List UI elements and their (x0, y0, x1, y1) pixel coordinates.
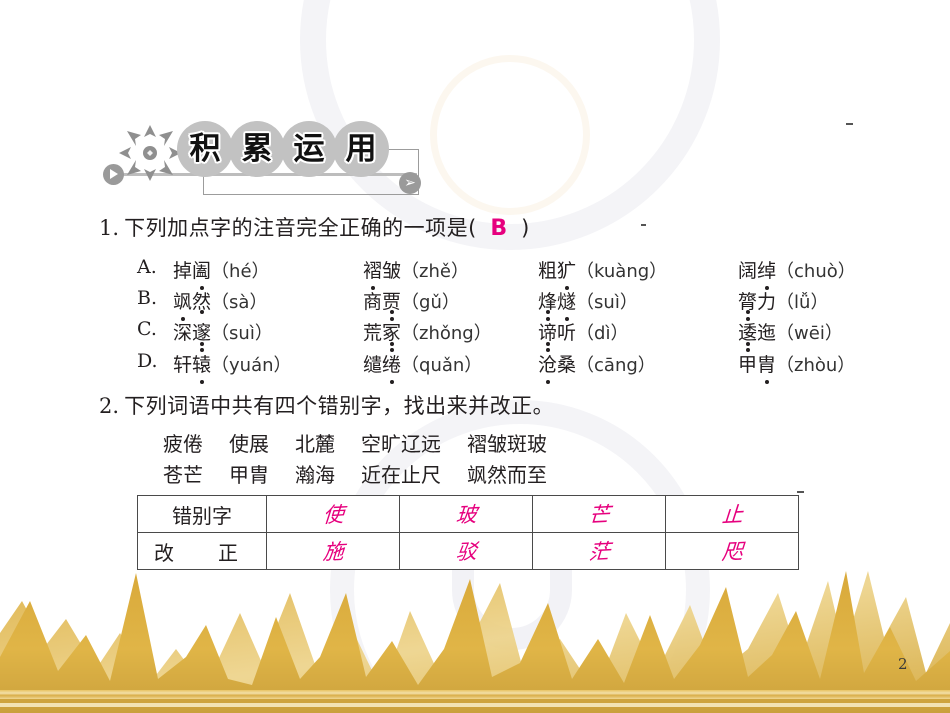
option-item: 飒然（sà） (173, 287, 267, 314)
handwritten-answer: 咫 (720, 535, 743, 566)
word-item: 近在止尺 (361, 459, 441, 488)
content-area: 1. 下列加点字的注音完全正确的一项是(B) A. 掉阖（hé） 褶皱（zhě）… (0, 0, 950, 713)
option-item: 轩辕（yuán） (173, 350, 292, 377)
option-item: 膂力（lǚ） (738, 287, 828, 314)
header-chip-label: 运 (294, 134, 325, 165)
question-1-stem: 1. 下列加点字的注音完全正确的一项是(B) (99, 212, 529, 242)
word-item: 疲倦 (163, 428, 203, 457)
word-list-row-2: 苍芒甲胄瀚海近在止尺飒然而至 (163, 459, 573, 488)
word-item: 空旷辽远 (361, 428, 441, 457)
option-item: 深邃（suì） (173, 318, 273, 345)
word-item: 飒然而至 (467, 459, 547, 488)
table-cell[interactable]: 茫 (533, 533, 666, 570)
section-header-banner: 积 累 运 用 ➢ (103, 125, 423, 197)
option-item: 荒冢（zhǒng） (363, 318, 492, 345)
option-pinyin: （sà） (211, 292, 267, 313)
header-chip: 累 (229, 121, 285, 177)
option-row-a: A. 掉阖（hé） 褶皱（zhě） 粗犷（kuàng） 阔绰（chuò） (137, 256, 163, 278)
option-pinyin: （zhòu） (776, 355, 855, 376)
option-pinyin: （gǔ） (401, 292, 460, 313)
handwritten-answer: 芒 (587, 498, 610, 529)
table-row: 错别字 使 玻 芒 止 (138, 496, 799, 533)
option-item: 沧桑（cāng） (538, 350, 656, 377)
option-pinyin: （cāng） (576, 355, 656, 376)
corner-tick-mark (846, 123, 853, 125)
table-cell[interactable]: 施 (267, 533, 400, 570)
table-row-header: 改 正 (138, 533, 267, 570)
word-item: 使展 (229, 428, 269, 457)
word-item: 瀚海 (295, 459, 335, 488)
answer-tick-mark (641, 224, 646, 226)
option-item: 烽燧（suì） (538, 287, 638, 314)
question-2-number: 2. (99, 394, 119, 418)
word-item: 苍芒 (163, 459, 203, 488)
option-item: 掉阖（hé） (173, 256, 270, 283)
question-2-stem: 2. 下列词语中共有四个错别字，找出来并改正。 (99, 390, 554, 420)
option-pinyin: （suì） (211, 323, 273, 344)
option-label: B. (137, 287, 157, 309)
option-row-c: C. 深邃（suì） 荒冢（zhǒng） 谛听（dì） 逶迤（wēi） (137, 318, 163, 340)
option-pinyin: （dì） (576, 323, 628, 344)
answer-letter: B (476, 216, 521, 241)
option-pinyin: （quǎn） (401, 355, 482, 376)
option-pinyin: （zhě） (401, 261, 469, 282)
option-pinyin: （chuò） (776, 261, 856, 282)
handwritten-answer: 使 (321, 498, 344, 529)
table-tick-mark (797, 491, 804, 493)
word-item: 甲胄 (229, 459, 269, 488)
word-item: 褶皱斑玻 (467, 428, 547, 457)
option-pinyin: （zhǒng） (401, 323, 492, 344)
header-chip: 用 (333, 121, 389, 177)
option-pinyin: （hé） (211, 261, 269, 282)
header-chip-label: 积 (190, 134, 221, 165)
option-item: 褶皱（zhě） (363, 256, 469, 283)
option-label: A. (137, 256, 157, 278)
option-item: 粗犷（kuàng） (538, 256, 667, 283)
handwritten-answer: 玻 (454, 498, 477, 529)
option-row-b: B. 飒然（sà） 商贾（gǔ） 烽燧（suì） 膂力（lǚ） (137, 287, 163, 309)
word-list-row-1: 疲倦使展北麓空旷辽远褶皱斑玻 (163, 428, 573, 457)
question-1-number: 1. (99, 216, 119, 240)
header-chip: 运 (281, 121, 337, 177)
handwritten-answer: 驳 (454, 535, 477, 566)
option-item: 谛听（dì） (538, 318, 628, 345)
word-item: 北麓 (295, 428, 335, 457)
table-cell[interactable]: 芒 (533, 496, 666, 533)
option-item: 逶迤（wēi） (738, 318, 843, 345)
option-pinyin: （wēi） (776, 323, 843, 344)
page-number: 2 (898, 655, 908, 673)
option-label: D. (137, 350, 158, 372)
question-2-text: 下列词语中共有四个错别字，找出来并改正。 (124, 394, 554, 418)
option-item: 缱绻（quǎn） (363, 350, 482, 377)
handwritten-answer: 茫 (587, 535, 610, 566)
table-cell[interactable]: 止 (666, 496, 799, 533)
option-pinyin: （lǚ） (776, 292, 828, 313)
option-item: 甲胄（zhòu） (738, 350, 855, 377)
table-row: 改 正 施 驳 茫 咫 (138, 533, 799, 570)
table-cell[interactable]: 使 (267, 496, 400, 533)
table-cell[interactable]: 驳 (400, 533, 533, 570)
slide-page: 积 累 运 用 ➢ 1. 下列加点字的注音完全正确的一项是(B) A. 掉阖（h… (0, 0, 950, 713)
option-item: 商贾（gǔ） (363, 287, 460, 314)
table-cell[interactable]: 玻 (400, 496, 533, 533)
starburst-arrows-icon (117, 123, 183, 185)
option-pinyin: （kuàng） (576, 261, 667, 282)
option-pinyin: （yuán） (211, 355, 292, 376)
header-chip: 积 (177, 121, 233, 177)
header-chip-row: 积 累 运 用 (177, 121, 385, 177)
option-label: C. (137, 318, 157, 340)
header-chip-label: 累 (242, 134, 273, 165)
option-row-d: D. 轩辕（yuán） 缱绻（quǎn） 沧桑（cāng） 甲胄（zhòu） (137, 350, 164, 372)
question-1-text: 下列加点字的注音完全正确的一项是 (124, 216, 468, 240)
handwritten-answer: 止 (720, 498, 743, 529)
table-cell[interactable]: 咫 (666, 533, 799, 570)
answer-table: 错别字 使 玻 芒 止 改 正 施 驳 茫 咫 (137, 495, 799, 570)
option-item: 阔绰（chuò） (738, 256, 856, 283)
answer-close-paren: ) (521, 216, 529, 240)
handwritten-answer: 施 (321, 535, 344, 566)
arrow-down-right-icon: ➢ (399, 172, 421, 194)
header-chip-label: 用 (346, 134, 377, 165)
option-pinyin: （suì） (576, 292, 638, 313)
table-row-header: 错别字 (138, 496, 267, 533)
